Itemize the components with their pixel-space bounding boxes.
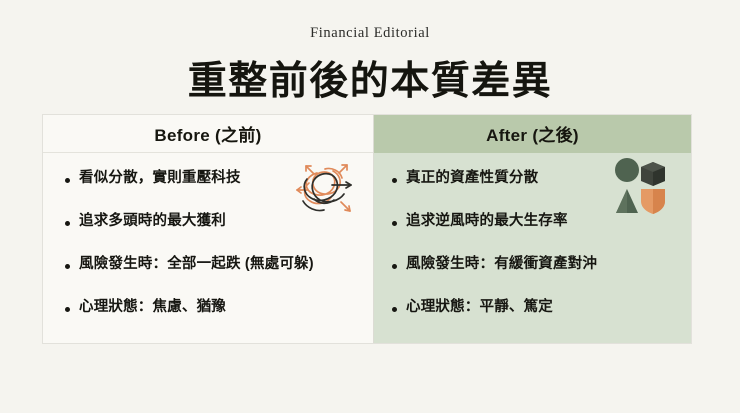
list-item-label: 風險發生時：有緩衝資產對沖 [406,257,597,273]
column-after: After (之後) [373,115,691,343]
bullet-dot-icon [65,178,70,183]
bullet-dot-icon [65,264,70,269]
list-item: 看似分散，實則重壓科技 [43,171,373,214]
list-item-label: 追求多頭時的最大獲利 [79,214,226,230]
list-item-label: 看似分散，實則重壓科技 [79,171,241,187]
bullet-dot-icon [392,178,397,183]
page-title: 重整前後的本質差異 [0,50,740,106]
bullet-dot-icon [392,221,397,226]
bullet-dot-icon [392,264,397,269]
list-item-label: 心理狀態：焦慮、猶豫 [79,300,226,316]
bullet-dot-icon [65,221,70,226]
list-item: 心理狀態：焦慮、猶豫 [43,300,373,343]
list-item-label: 真正的資產性質分散 [406,171,538,187]
bullet-dot-icon [392,307,397,312]
column-before: Before (之前) [43,115,373,343]
list-item-label: 追求逆風時的最大生存率 [406,214,568,230]
list-item: 風險發生時：有緩衝資產對沖 [374,257,691,300]
bullet-dot-icon [65,307,70,312]
bullet-list-after: 真正的資產性質分散 追求逆風時的最大生存率 風險發生時：有緩衝資產對沖 心理狀態… [374,171,691,343]
eyebrow-label: Financial Editorial [0,25,740,42]
list-item-label: 風險發生時：全部一起跌 (無處可躲) [79,257,314,273]
list-item: 追求逆風時的最大生存率 [374,214,691,257]
comparison-table: Before (之前) [42,114,692,344]
column-body-before: 看似分散，實則重壓科技 追求多頭時的最大獲利 風險發生時：全部一起跌 (無處可躲… [43,153,373,343]
list-item: 心理狀態：平靜、篤定 [374,300,691,343]
column-header-before: Before (之前) [43,115,373,153]
list-item-label: 心理狀態：平靜、篤定 [406,300,553,316]
list-item: 追求多頭時的最大獲利 [43,214,373,257]
bullet-list-before: 看似分散，實則重壓科技 追求多頭時的最大獲利 風險發生時：全部一起跌 (無處可躲… [43,171,373,343]
column-body-after: 真正的資產性質分散 追求逆風時的最大生存率 風險發生時：有緩衝資產對沖 心理狀態… [374,153,691,343]
column-header-after: After (之後) [374,115,691,153]
list-item: 風險發生時：全部一起跌 (無處可躲) [43,257,373,300]
list-item: 真正的資產性質分散 [374,171,691,214]
